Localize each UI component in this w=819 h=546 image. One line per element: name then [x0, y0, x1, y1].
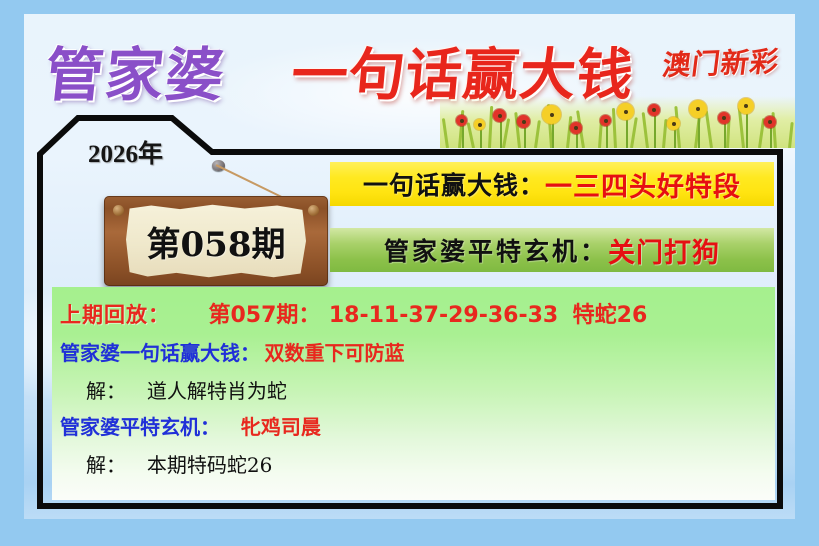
record-1-title: 管家婆一句话赢大钱：: [60, 341, 260, 365]
banner-1-label: 一句话赢大钱：: [363, 166, 545, 202]
review-numbers: 18-11-37-29-36-33: [329, 303, 558, 328]
record-2-answer-label: 解：: [86, 453, 126, 477]
record-2-value: 牝鸡司晨: [241, 415, 321, 439]
last-issue-review-row: 上期回放： 第057期： 18-11-37-29-36-33 特蛇26: [60, 297, 647, 329]
header: 管家婆 一句话赢大钱 澳门新彩: [0, 0, 819, 130]
record-2-title-row: 管家婆平特玄机： 牝鸡司晨: [60, 411, 321, 440]
banner-1-value: 一三四头好特段: [545, 165, 741, 204]
record-1-value: 双数重下可防蓝: [264, 341, 404, 365]
record-2-title: 管家婆平特玄机：: [60, 415, 220, 439]
sign-paper: 第058期: [126, 204, 306, 278]
banner-2-label: 管家婆平特玄机：: [384, 232, 608, 268]
review-special: 特蛇26: [573, 303, 648, 328]
sign-board: 第058期: [104, 196, 328, 286]
poster-root: 管家婆 一句话赢大钱 澳门新彩: [0, 0, 819, 546]
issue-hanging-sign: 第058期: [104, 160, 328, 288]
record-1-answer: 道人解特肖为蛇: [147, 379, 287, 403]
banner-yi-ju-hua-ying-da-qian[interactable]: 一句话赢大钱： 一三四头好特段: [330, 162, 774, 206]
record-1-title-row: 管家婆一句话赢大钱： 双数重下可防蓝: [60, 337, 404, 366]
content-panel: 上期回放： 第057期： 18-11-37-29-36-33 特蛇26 管家婆一…: [52, 287, 775, 500]
record-2-answer-row: 解： 本期特码蛇26: [86, 449, 272, 478]
review-label: 上期回放：: [60, 303, 170, 327]
brand-title: 管家婆: [42, 28, 231, 112]
banner-2-value: 关门打狗: [608, 231, 720, 270]
record-1-answer-row: 解： 道人解特肖为蛇: [86, 375, 287, 404]
region-badge: 澳门新彩: [660, 40, 782, 84]
issue-number-text: 第058期: [147, 217, 286, 266]
sign-rope-right: [216, 164, 287, 200]
review-issue: 第057期：: [208, 303, 320, 328]
record-2-answer: 本期特码蛇26: [147, 453, 272, 477]
banner-ping-te-xuan-ji[interactable]: 管家婆平特玄机： 关门打狗: [330, 228, 774, 272]
record-1-answer-label: 解：: [86, 379, 126, 403]
